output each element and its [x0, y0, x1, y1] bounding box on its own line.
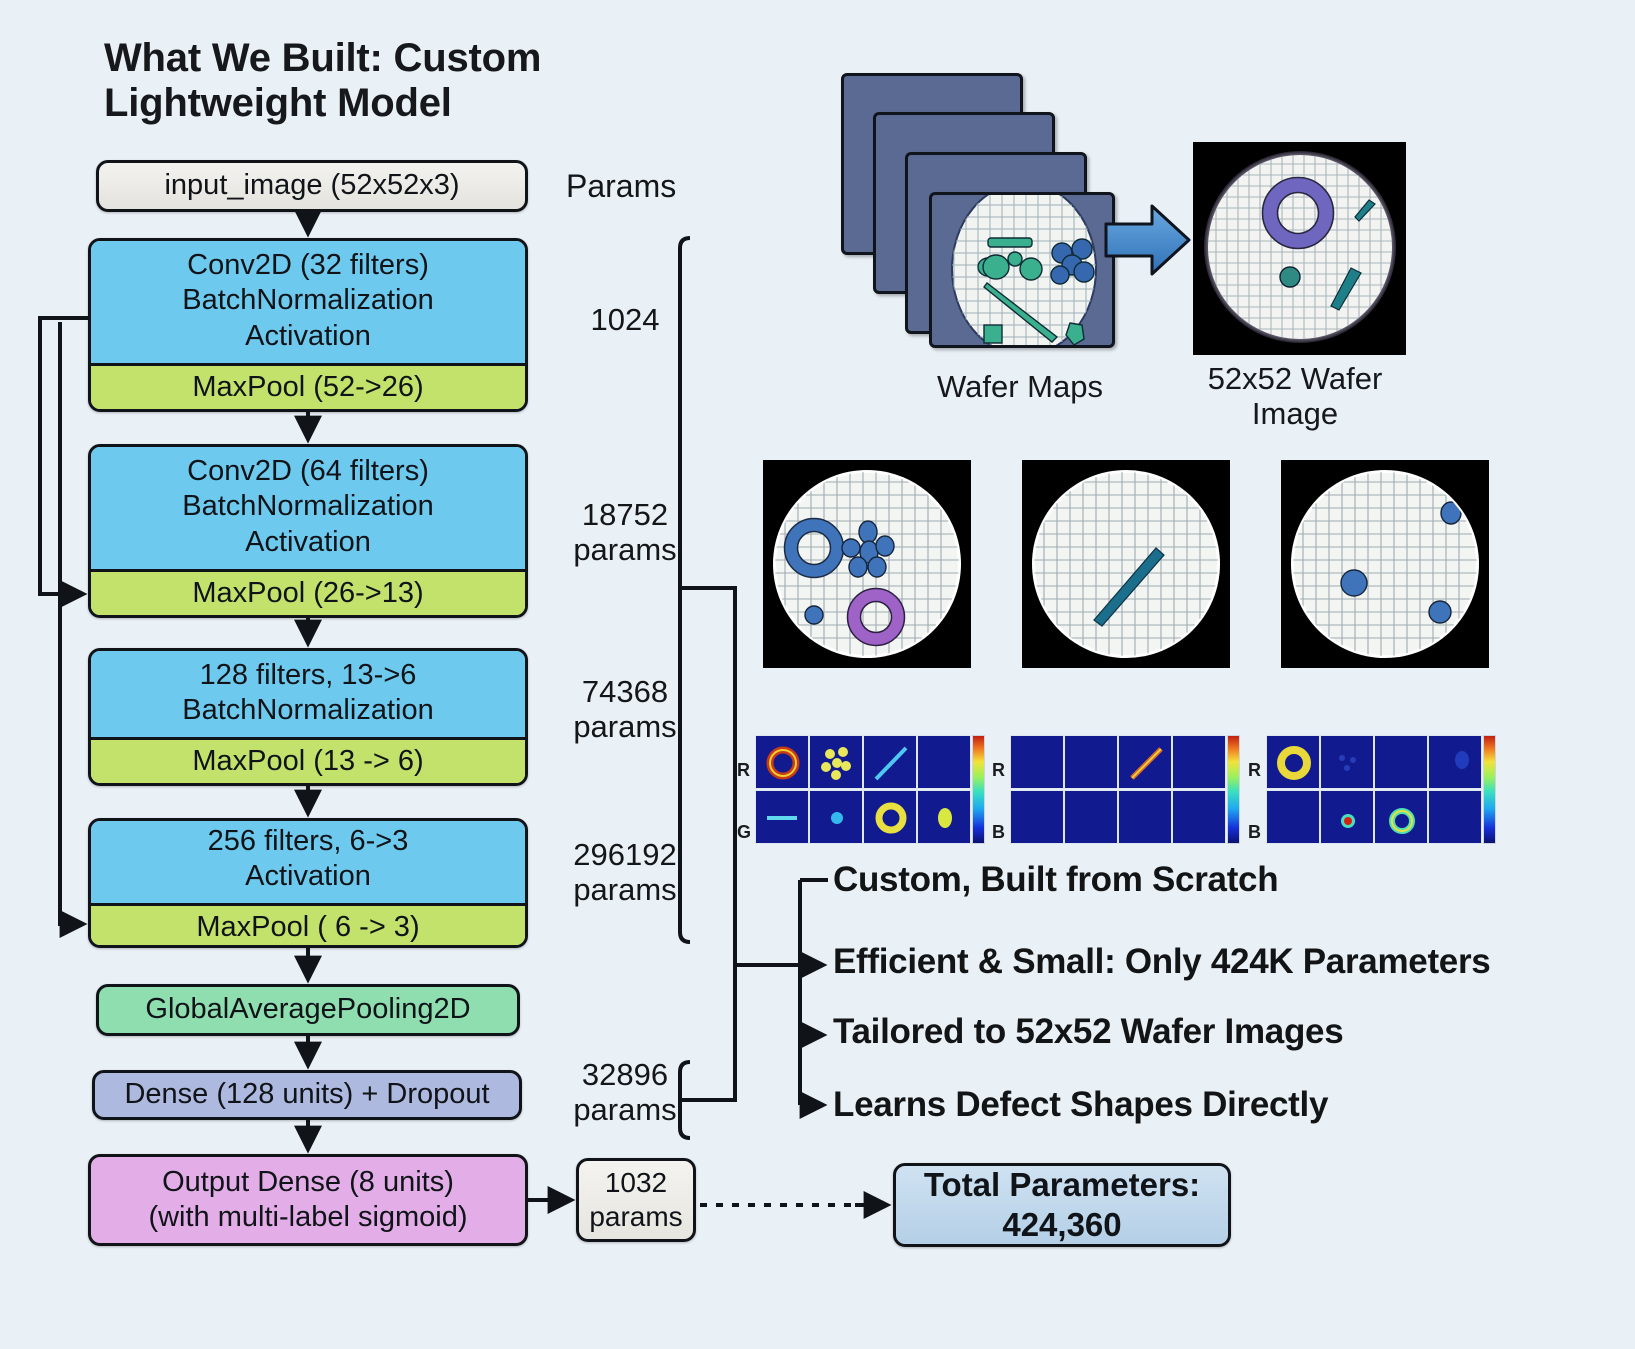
heatmap-tile-b2-2 — [1064, 790, 1118, 844]
heatmap-channel-label-b3: B — [1248, 822, 1261, 843]
heatmap-tile-b2-1 — [1010, 790, 1064, 844]
node-input-image: input_image (52x52x3) — [96, 160, 528, 212]
heatmap-colorbar-2 — [1227, 735, 1240, 844]
wafer-panel-1 — [763, 460, 971, 668]
heatmap-colorbar-3 — [1483, 735, 1496, 844]
conv-cell-1-label: Conv2D (32 filters)BatchNormalizationAct… — [91, 248, 525, 353]
pool-cell-2: MaxPool (26->13) — [91, 569, 525, 616]
node-total-parameters-label: Total Parameters:424,360 — [896, 1165, 1228, 1245]
bullet-efficient-small: Efficient & Small: Only 424K Parameters — [833, 942, 1490, 982]
conv-cell-3: 128 filters, 13->6BatchNormalization — [91, 650, 525, 737]
heatmap-tile-b3-2 — [1320, 790, 1374, 844]
heatmap-tile-r1-1 — [755, 735, 809, 789]
heatmap-tile-r1-2 — [809, 735, 863, 789]
heatmap-tile-r3-1 — [1266, 735, 1320, 789]
heatmap-tile-r2-4 — [1172, 735, 1226, 789]
conv-cell-1: Conv2D (32 filters)BatchNormalizationAct… — [91, 240, 525, 362]
node-total-parameters: Total Parameters:424,360 — [893, 1163, 1231, 1247]
skip-connection-1 — [40, 318, 88, 594]
params-label-dense: 32896params — [540, 1058, 710, 1127]
params-label-block-1: 1024 — [540, 303, 710, 338]
node-output-dense-label: Output Dense (8 units)(with multi-label … — [91, 1165, 525, 1235]
conv-cell-2-label: Conv2D (64 filters)BatchNormalizationAct… — [91, 454, 525, 559]
heatmap-tile-r1-4 — [917, 735, 971, 789]
heatmap-tile-b3-3 — [1374, 790, 1428, 844]
conv-cell-4: 256 filters, 6->3Activation — [91, 818, 525, 903]
pool-cell-4: MaxPool ( 6 -> 3) — [91, 903, 525, 948]
heatmap-tile-b2-4 — [1172, 790, 1226, 844]
wafer-stack-card-front — [929, 192, 1115, 348]
heatmap-channel-label-r3: R — [1248, 760, 1261, 781]
node-conv-block-4: 256 filters, 6->3Activation MaxPool ( 6 … — [88, 818, 528, 948]
node-gap-label: GlobalAveragePooling2D — [99, 992, 517, 1027]
wafer-panel-2 — [1022, 460, 1230, 668]
heatmap-tile-b3-1 — [1266, 790, 1320, 844]
conv-cell-2: Conv2D (64 filters)BatchNormalizationAct… — [91, 446, 525, 568]
heatmap-channel-label-r2: R — [992, 760, 1005, 781]
heatmap-tile-b2-3 — [1118, 790, 1172, 844]
heatmap-tile-r3-3 — [1374, 735, 1428, 789]
heatmap-tile-g1-2 — [809, 790, 863, 844]
heatmap-tile-r3-4 — [1428, 735, 1482, 789]
caption-wafer-maps: Wafer Maps — [890, 370, 1150, 405]
transform-arrow — [1104, 200, 1192, 285]
node-dense-label: Dense (128 units) + Dropout — [95, 1077, 519, 1112]
conv-cell-4-label: 256 filters, 6->3Activation — [91, 824, 525, 894]
caption-wafer-image: 52x52 Wafer Image — [1180, 362, 1410, 431]
pool-cell-1-label: MaxPool (52->26) — [91, 370, 525, 405]
conv-cell-3-label: 128 filters, 13->6BatchNormalization — [91, 658, 525, 728]
wafer-panel-3 — [1281, 460, 1489, 668]
node-global-average-pooling: GlobalAveragePooling2D — [96, 984, 520, 1036]
node-conv-block-3: 128 filters, 13->6BatchNormalization Max… — [88, 648, 528, 786]
skip-connection-2 — [60, 322, 82, 924]
heatmap-tile-g1-3 — [863, 790, 917, 844]
bullet-custom-built: Custom, Built from Scratch — [833, 860, 1278, 900]
heatmap-tile-r1-3 — [863, 735, 917, 789]
pool-cell-3: MaxPool (13 -> 6) — [91, 737, 525, 784]
params-label-block-4: 296192params — [540, 838, 710, 907]
heatmap-colorbar-1 — [972, 735, 985, 844]
chip-output-params: 1032params — [576, 1158, 696, 1242]
heatmap-tile-r2-2 — [1064, 735, 1118, 789]
pool-cell-4-label: MaxPool ( 6 -> 3) — [91, 910, 525, 945]
heatmap-channel-label-r1: R — [737, 760, 750, 781]
wafer-image-52x52 — [1193, 142, 1406, 355]
bullet-tailored: Tailored to 52x52 Wafer Images — [833, 1012, 1343, 1052]
node-conv-block-1: Conv2D (32 filters)BatchNormalizationAct… — [88, 238, 528, 412]
node-output-dense: Output Dense (8 units)(with multi-label … — [88, 1154, 528, 1246]
node-input-image-label: input_image (52x52x3) — [99, 168, 525, 203]
bracket-conv-params — [680, 238, 690, 942]
heatmap-tile-r3-2 — [1320, 735, 1374, 789]
heatmap-channel-label-g1: G — [737, 822, 751, 843]
params-column-header: Params — [566, 168, 676, 205]
chip-output-params-label: 1032params — [579, 1166, 693, 1234]
heatmap-tile-b3-4 — [1428, 790, 1482, 844]
heatmap-tile-r2-1 — [1010, 735, 1064, 789]
heatmap-tile-g1-4 — [917, 790, 971, 844]
params-label-block-3: 74368params — [540, 675, 710, 744]
pool-cell-2-label: MaxPool (26->13) — [91, 576, 525, 611]
heatmap-channel-label-b2: B — [992, 822, 1005, 843]
node-dense: Dense (128 units) + Dropout — [92, 1070, 522, 1120]
heatmap-tile-r2-3 — [1118, 735, 1172, 789]
heatmap-tile-g1-1 — [755, 790, 809, 844]
params-label-block-2: 18752params — [540, 498, 710, 567]
pool-cell-1: MaxPool (52->26) — [91, 363, 525, 410]
wafer-front-graphic — [932, 195, 1115, 348]
pool-cell-3-label: MaxPool (13 -> 6) — [91, 744, 525, 779]
node-conv-block-2: Conv2D (64 filters)BatchNormalizationAct… — [88, 444, 528, 618]
page-title: What We Built: Custom Lightweight Model — [104, 36, 664, 126]
bullet-learns-shapes: Learns Defect Shapes Directly — [833, 1085, 1328, 1125]
